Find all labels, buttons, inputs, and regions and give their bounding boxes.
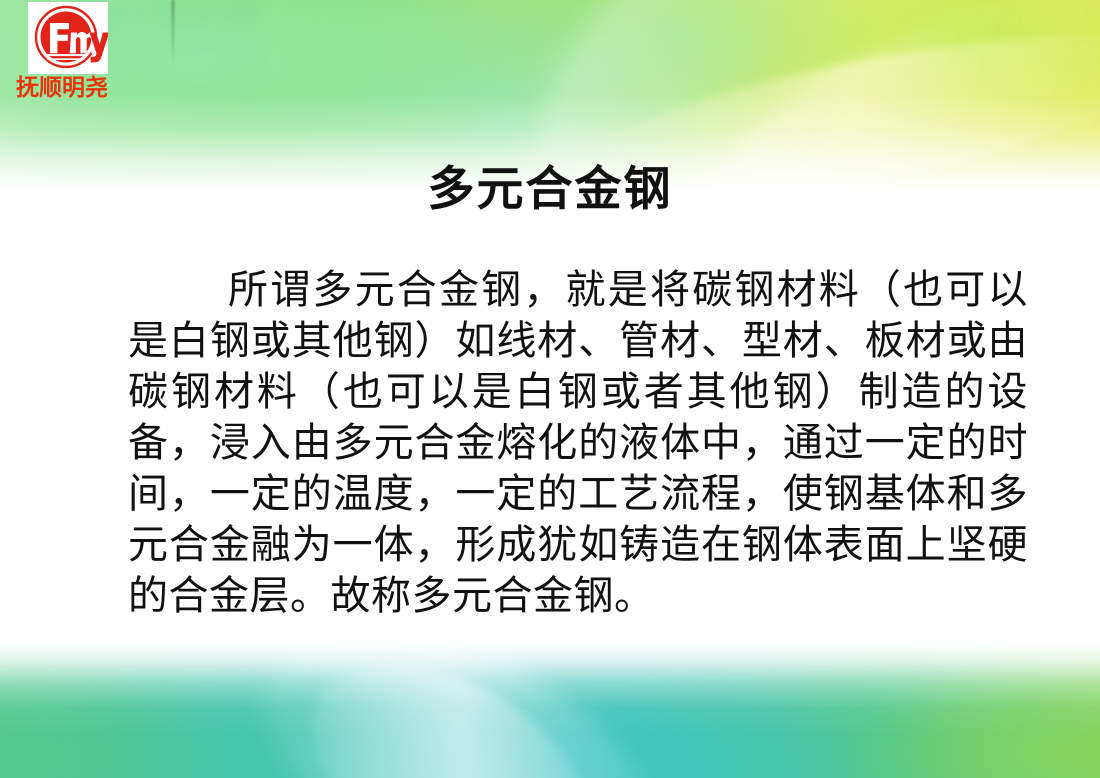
- brand-caption: 抚顺明尧: [16, 76, 140, 100]
- brand-logo: 抚顺明尧: [10, 2, 140, 100]
- page-title: 多元合金钢: [0, 163, 1100, 217]
- fmy-circle-logo-icon: [28, 2, 108, 74]
- body-paragraph: 所谓多元合金钢，就是将碳钢材料（也可以是白钢或其他钢）如线材、管材、型材、板材或…: [128, 265, 1028, 622]
- presentation-slide: 抚顺明尧 多元合金钢 所谓多元合金钢，就是将碳钢材料（也可以是白钢或其他钢）如线…: [0, 0, 1100, 778]
- slide-content: 多元合金钢 所谓多元合金钢，就是将碳钢材料（也可以是白钢或其他钢）如线材、管材、…: [0, 0, 1100, 778]
